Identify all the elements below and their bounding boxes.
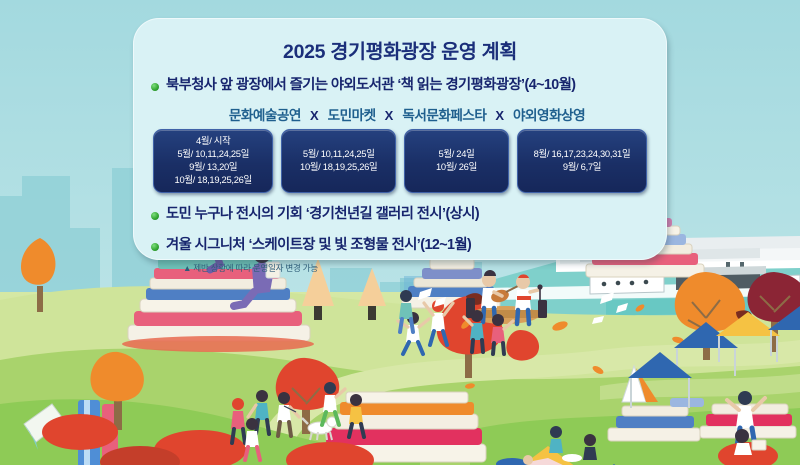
date-line: 10월/ 26일	[412, 161, 501, 174]
bullet-text-1: 북부청사 앞 광장에서 즐기는 야외도서관 ‘책 읽는 경기평화광장’(4~10…	[166, 77, 576, 95]
date-line: 10월/ 18,19,25,26일	[289, 161, 388, 174]
date-line: 5월/ 10,11,24,25일	[161, 148, 265, 161]
date-box-4: 8월/ 16,17,23,24,30,31일 9월/ 6,7일	[517, 129, 647, 193]
category-separator-1: X	[310, 108, 319, 123]
date-line: 4월/ 시작	[161, 135, 265, 148]
date-box-1: 4월/ 시작 5월/ 10,11,24,25일 9월/ 13,20일 10월/ …	[153, 129, 273, 193]
page-title: 2025 경기평화광장 운영 계획	[133, 18, 667, 64]
date-box-3: 5월/ 24일 10월/ 26일	[404, 129, 509, 193]
date-box-2: 5월/ 10,11,24,25일 10월/ 18,19,25,26일	[281, 129, 396, 193]
bullet-item-2: 도민 누구나 전시의 기회 ‘경기천년길 갤러리 전시’(상시)	[133, 206, 667, 224]
category-label-4: 야외영화상영	[513, 104, 585, 124]
category-label-3: 독서문화페스타	[402, 104, 486, 124]
info-panel: 2025 경기평화광장 운영 계획 북부청사 앞 광장에서 즐기는 야외도서관 …	[133, 18, 667, 260]
date-line: 5월/ 10,11,24,25일	[289, 148, 388, 161]
footnote: ▲ 제반 상황에 따라 운영일자 변경 가능	[133, 262, 667, 274]
date-line: 9월/ 13,20일	[161, 161, 265, 174]
date-line: 8월/ 16,17,23,24,30,31일	[525, 148, 639, 161]
bullet-item-1: 북부청사 앞 광장에서 즐기는 야외도서관 ‘책 읽는 경기평화광장’(4~10…	[133, 77, 667, 95]
date-line: 5월/ 24일	[412, 148, 501, 161]
bullet-text-2: 도민 누구나 전시의 기회 ‘경기천년길 갤러리 전시’(상시)	[166, 206, 479, 224]
category-label-1: 문화예술공연	[229, 104, 301, 124]
date-box-row: 4월/ 시작 5월/ 10,11,24,25일 9월/ 13,20일 10월/ …	[133, 129, 667, 193]
bullet-dot-icon	[151, 243, 159, 251]
bullet-dot-icon	[151, 83, 159, 91]
date-line: 9월/ 6,7일	[525, 161, 639, 174]
bullet-dot-icon	[151, 212, 159, 220]
category-separator-2: X	[385, 108, 394, 123]
bullet-item-3: 겨울 시그니처 ‘스케이트장 및 빛 조형물 전시’(12~1월)	[133, 237, 667, 255]
category-separator-3: X	[495, 108, 504, 123]
category-label-2: 도민마켓	[328, 104, 376, 124]
date-line: 10월/ 18,19,25,26일	[161, 174, 265, 187]
category-row: 문화예술공연 X 도민마켓 X 독서문화페스타 X 야외영화상영	[133, 104, 667, 124]
bullet-text-3: 겨울 시그니처 ‘스케이트장 및 빛 조형물 전시’(12~1월)	[166, 237, 471, 255]
